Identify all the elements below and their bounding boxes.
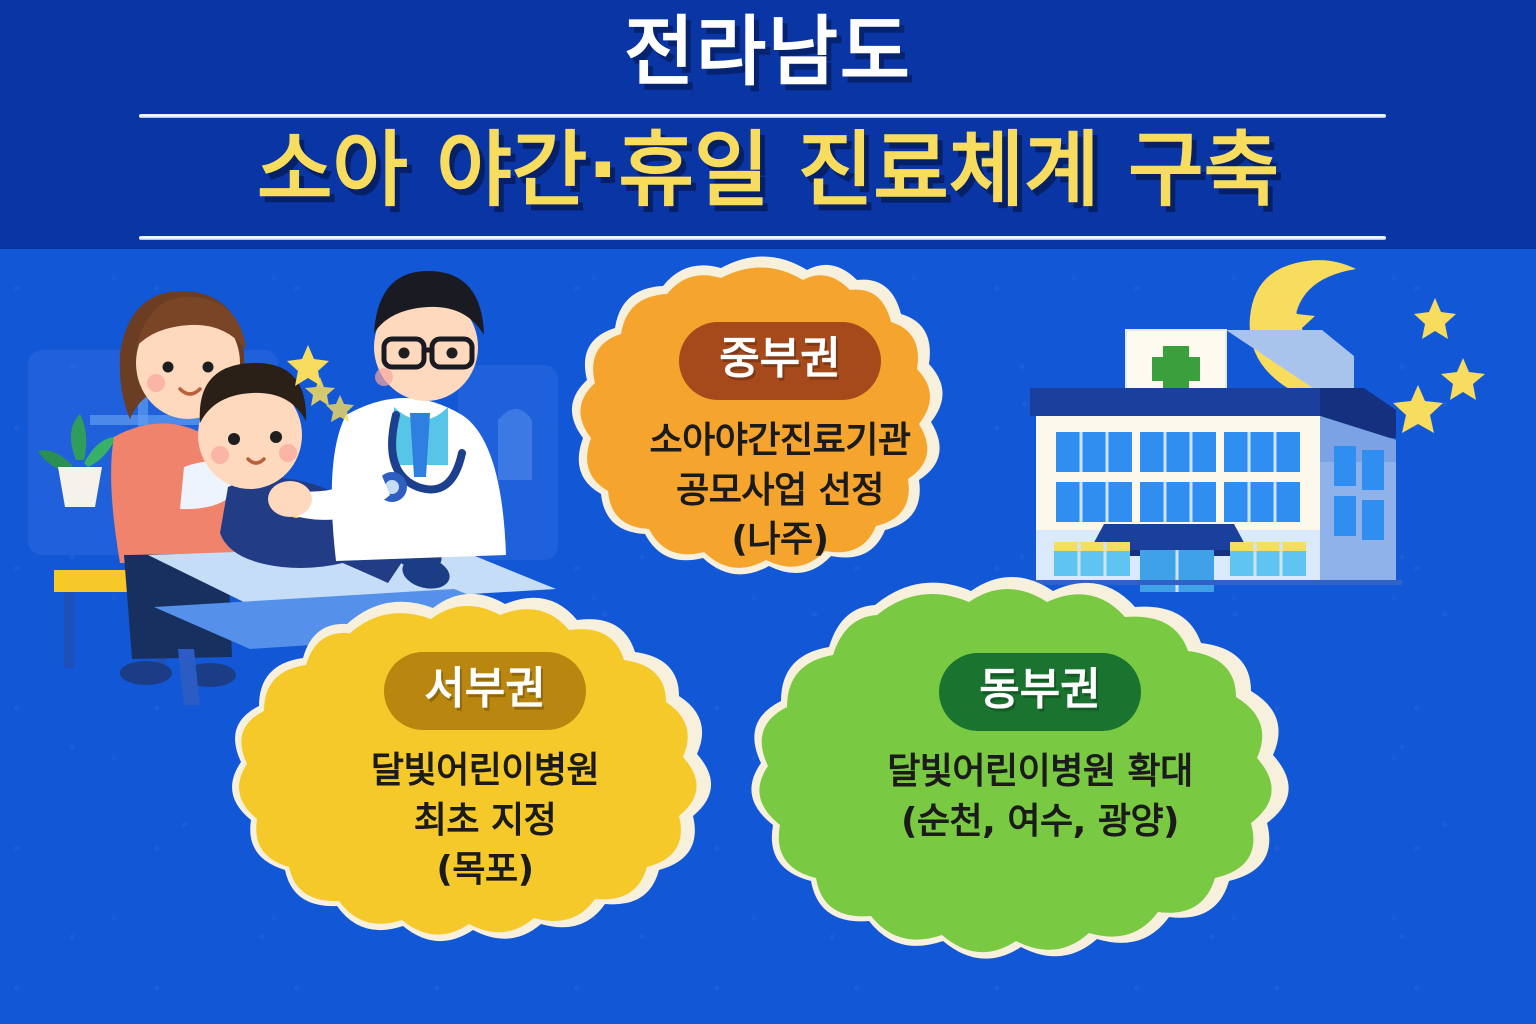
badge-west: 서부권: [384, 652, 585, 730]
header-rule-bottom: [139, 236, 1386, 240]
blob-east-line-1: 달빛어린이병원 확대: [725, 747, 1355, 797]
blob-central-line-2: 공모사업 선정: [545, 466, 1015, 516]
blob-east-content: 동부권 달빛어린이병원 확대 (순천, 여수, 광양): [725, 653, 1355, 846]
blob-central-line-3: (나주): [545, 515, 1015, 565]
poster-root: 중부권 소아야간진료기관 공모사업 선정 (나주) 서부권 달빛어린이병원 최초…: [0, 0, 1536, 1024]
blob-west-content: 서부권 달빛어린이병원 최초 지정 (목포): [205, 652, 765, 895]
region-blob-east[interactable]: 동부권 달빛어린이병원 확대 (순천, 여수, 광양): [725, 565, 1355, 965]
region-blob-west[interactable]: 서부권 달빛어린이병원 최초 지정 (목포): [205, 590, 765, 970]
badge-east: 동부권: [939, 653, 1140, 731]
header-rule-top: [139, 114, 1386, 118]
blob-east-line-2: (순천, 여수, 광양): [725, 797, 1355, 847]
page-title-sub: 소아 야간·휴일 진료체계 구축: [0, 130, 1536, 212]
blob-west-line-2: 최초 지정: [205, 796, 765, 846]
poster-header: 전라남도 소아 야간·휴일 진료체계 구축: [0, 0, 1536, 249]
blob-west-lines: 달빛어린이병원 최초 지정 (목포): [205, 746, 765, 895]
blob-west-line-1: 달빛어린이병원: [205, 746, 765, 796]
blob-central-line-1: 소아야간진료기관: [545, 416, 1015, 466]
blob-west-line-3: (목포): [205, 845, 765, 895]
blob-central-content: 중부권 소아야간진료기관 공모사업 선정 (나주): [545, 322, 1015, 565]
page-title-main: 전라남도: [0, 14, 1536, 90]
blob-central-lines: 소아야간진료기관 공모사업 선정 (나주): [545, 416, 1015, 565]
badge-central: 중부권: [679, 322, 880, 400]
blob-east-lines: 달빛어린이병원 확대 (순천, 여수, 광양): [725, 747, 1355, 846]
